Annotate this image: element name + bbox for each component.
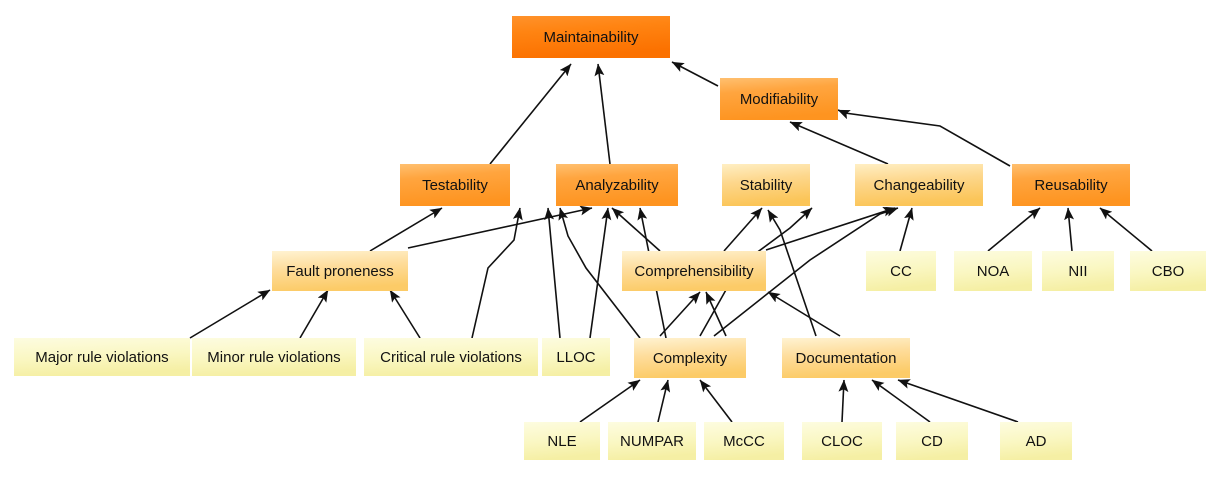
node-box-analyzability: [556, 164, 678, 206]
edge-complexity-to-comprehensibility: [660, 292, 700, 336]
edge-comprehensibility-to-stability: [724, 208, 762, 251]
node-mccc[interactable]: McCC: [704, 422, 784, 460]
node-box-ad: [1000, 422, 1072, 460]
node-cbo[interactable]: CBO: [1130, 251, 1206, 291]
node-complexity[interactable]: Complexity: [634, 338, 746, 378]
edge-ad-to-documentation: [898, 380, 1018, 422]
node-testability[interactable]: Testability: [400, 164, 510, 206]
node-box-documentation: [782, 338, 910, 378]
node-box-comprehensibility: [622, 251, 766, 291]
node-box-major_rule_violations: [14, 338, 190, 376]
node-box-minor_rule_violations: [192, 338, 356, 376]
edge-modifiability-to-maintainability: [672, 62, 718, 86]
edge-changeability-to-modifiability: [790, 122, 888, 164]
node-maintainability[interactable]: Maintainability: [512, 16, 670, 58]
node-major_rule_violations[interactable]: Major rule violations: [14, 338, 190, 376]
edge-cbo-to-reusability: [1100, 208, 1152, 251]
node-comprehensibility[interactable]: Comprehensibility: [622, 251, 766, 291]
node-cc[interactable]: CC: [866, 251, 936, 291]
edge-testability-to-maintainability: [490, 64, 571, 164]
node-minor_rule_violations[interactable]: Minor rule violations: [192, 338, 356, 376]
node-box-nle: [524, 422, 600, 460]
node-analyzability[interactable]: Analyzability: [556, 164, 678, 206]
node-fault_proneness[interactable]: Fault proneness: [272, 251, 408, 291]
edge-mccc-to-complexity: [700, 380, 732, 422]
node-box-cbo: [1130, 251, 1206, 291]
edge-documentation-to-comprehensibility: [706, 292, 726, 336]
node-box-stability: [722, 164, 810, 206]
edge-critical_rule_violations-to-fault_proneness: [390, 290, 420, 338]
edge-analyzability-to-maintainability: [598, 64, 610, 164]
node-nii[interactable]: NII: [1042, 251, 1114, 291]
edge-cc-to-changeability: [900, 208, 912, 251]
node-changeability[interactable]: Changeability: [855, 164, 983, 206]
edge-lloc-to-testability: [548, 208, 560, 338]
node-box-complexity: [634, 338, 746, 378]
node-box-cd: [896, 422, 968, 460]
edge-nle-to-complexity: [580, 380, 640, 422]
edge-cd-to-documentation: [872, 380, 930, 422]
node-documentation[interactable]: Documentation: [782, 338, 910, 378]
node-box-fault_proneness: [272, 251, 408, 291]
node-box-mccc: [704, 422, 784, 460]
quality-model-graph: MaintainabilityModifiabilityTestabilityA…: [0, 0, 1213, 481]
node-cloc[interactable]: CLOC: [802, 422, 882, 460]
node-stability[interactable]: Stability: [722, 164, 810, 206]
edge-fault_proneness-to-analyzability: [408, 208, 592, 248]
node-box-nii: [1042, 251, 1114, 291]
node-critical_rule_violations[interactable]: Critical rule violations: [364, 338, 538, 376]
node-numpar[interactable]: NUMPAR: [608, 422, 696, 460]
edge-fault_proneness-to-testability: [370, 208, 442, 251]
node-box-testability: [400, 164, 510, 206]
node-box-cloc: [802, 422, 882, 460]
edge-lloc-to-analyzability: [590, 208, 608, 338]
node-box-reusability: [1012, 164, 1130, 206]
nodes-layer: MaintainabilityModifiabilityTestabilityA…: [14, 16, 1206, 460]
node-box-numpar: [608, 422, 696, 460]
node-ad[interactable]: AD: [1000, 422, 1072, 460]
node-box-modifiability: [720, 78, 838, 120]
node-box-lloc: [542, 338, 610, 376]
edge-comprehensibility-to-analyzability: [612, 208, 660, 251]
node-modifiability[interactable]: Modifiability: [720, 78, 838, 120]
node-noa[interactable]: NOA: [954, 251, 1032, 291]
node-box-cc: [866, 251, 936, 291]
edge-reusability-to-modifiability: [838, 110, 1010, 166]
node-reusability[interactable]: Reusability: [1012, 164, 1130, 206]
node-box-noa: [954, 251, 1032, 291]
edge-cloc-to-documentation: [842, 380, 844, 422]
edge-major_rule_violations-to-fault_proneness: [190, 290, 270, 338]
edge-numpar-to-complexity: [658, 380, 668, 422]
node-nle[interactable]: NLE: [524, 422, 600, 460]
node-box-critical_rule_violations: [364, 338, 538, 376]
node-box-maintainability: [512, 16, 670, 58]
diagram-canvas: MaintainabilityModifiabilityTestabilityA…: [0, 0, 1213, 481]
node-lloc[interactable]: LLOC: [542, 338, 610, 376]
node-box-changeability: [855, 164, 983, 206]
node-cd[interactable]: CD: [896, 422, 968, 460]
edge-critical_rule_violations-to-testability: [472, 208, 520, 338]
edge-noa-to-reusability: [988, 208, 1040, 251]
edge-minor_rule_violations-to-fault_proneness: [300, 290, 328, 338]
edge-nii-to-reusability: [1068, 208, 1072, 251]
